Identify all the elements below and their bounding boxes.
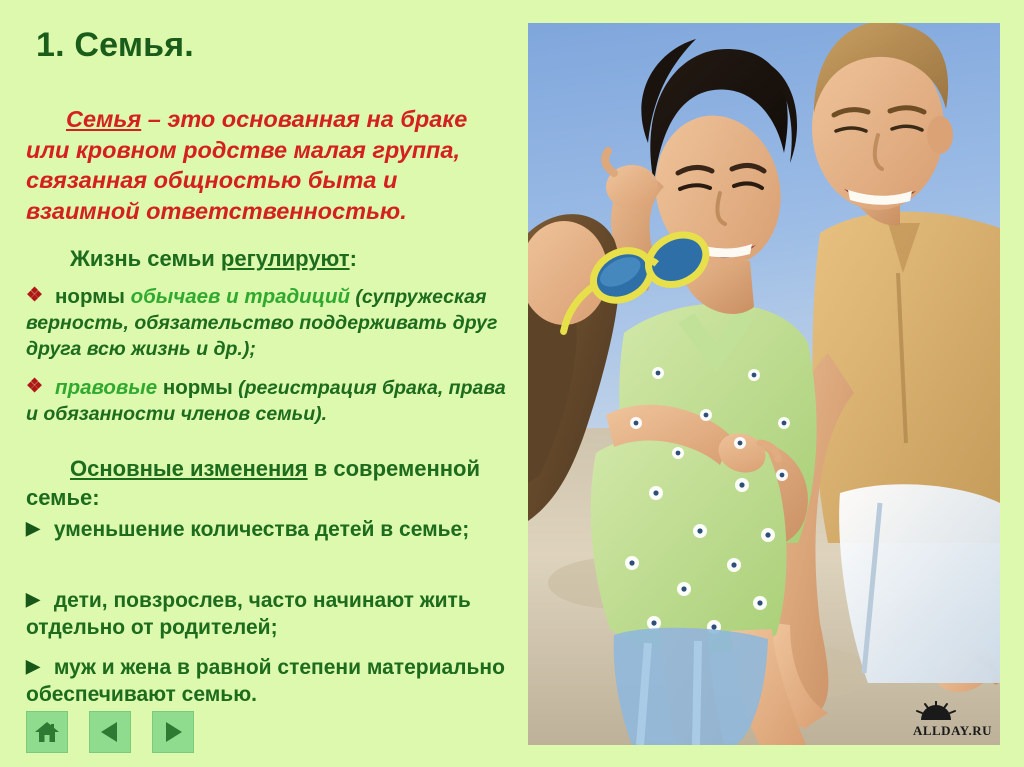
navigation-bar: [26, 711, 194, 753]
list-item-change-1: ▶уменьшение количества детей в семье;: [26, 517, 518, 544]
norm-mid: нормы: [157, 376, 233, 399]
regulate-heading-tail: :: [350, 246, 357, 271]
regulate-heading: Жизнь семьи регулируют:: [26, 246, 516, 272]
triangle-bullet-icon: ▶: [26, 518, 54, 538]
triangle-right-icon: [161, 720, 185, 744]
triangle-bullet-icon: ▶: [26, 589, 54, 609]
home-icon: [34, 720, 60, 744]
list-item-norm-customs: ❖нормы обычаев и традиций (супружеская в…: [26, 284, 518, 362]
changes-heading-underlined: Основные изменения: [70, 456, 308, 481]
norm-highlight: обычаев и традиций: [131, 285, 350, 308]
previous-button[interactable]: [89, 711, 131, 753]
norm-lead: нормы: [55, 285, 131, 308]
list-item-norm-legal: ❖правовые нормы (регистрация брака, прав…: [26, 375, 518, 427]
changes-heading: Основные изменения в современной семье:: [26, 455, 518, 512]
triangle-left-icon: [98, 720, 122, 744]
change-text: дети, повзрослев, часто начинают жить от…: [26, 589, 471, 639]
slide-root: 1. Семья. Семья – это основанная на брак…: [0, 0, 1024, 767]
family-photo-illustration: [528, 23, 1000, 745]
definition-paragraph: Семья – это основанная на браке или кров…: [26, 104, 516, 226]
list-item-change-2: ▶дети, повзрослев, часто начинают жить о…: [26, 588, 518, 642]
diamond-bullet-icon: ❖: [26, 376, 55, 397]
family-photo: ALLDAY.RU: [528, 23, 1000, 745]
list-item-change-3: ▶муж и жена в равной степени материально…: [26, 655, 518, 709]
regulate-heading-underlined: регулируют: [221, 246, 350, 271]
change-text: муж и жена в равной степени материально …: [26, 656, 505, 706]
regulate-heading-plain: Жизнь семьи: [70, 246, 221, 271]
norm-highlight: правовые: [55, 376, 157, 399]
next-button[interactable]: [152, 711, 194, 753]
page-title: 1. Семья.: [36, 26, 194, 65]
definition-term: Семья: [66, 106, 141, 132]
change-text: уменьшение количества детей в семье;: [54, 518, 469, 541]
home-button[interactable]: [26, 711, 68, 753]
text-column: 1. Семья. Семья – это основанная на брак…: [0, 0, 520, 767]
diamond-bullet-icon: ❖: [26, 285, 55, 306]
triangle-bullet-icon: ▶: [26, 656, 54, 676]
